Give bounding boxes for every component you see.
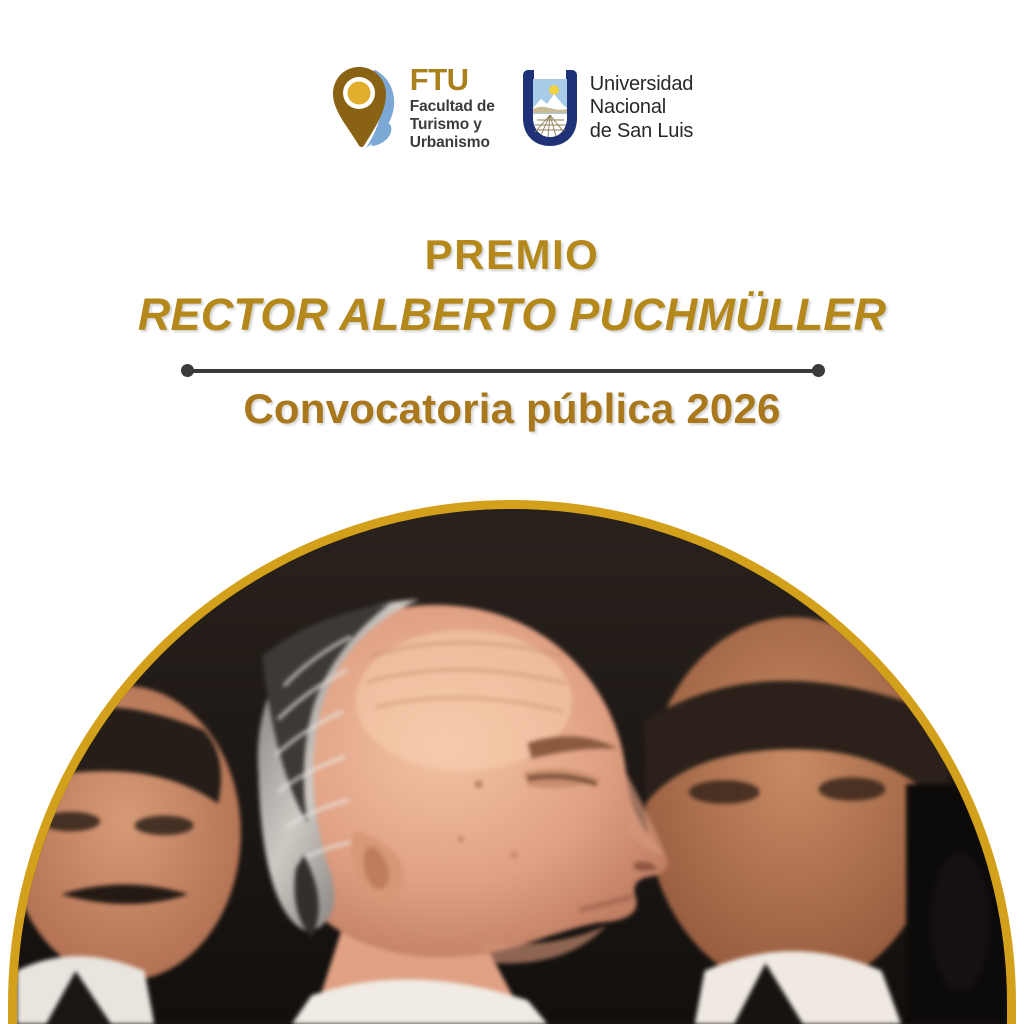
ftu-logo: FTU Facultad de Turismo y Urbanismo: [331, 62, 495, 154]
ftu-subtitle-line-2: Turismo y: [410, 116, 495, 134]
unsl-logo: Universidad Nacional de San Luis: [521, 62, 693, 154]
divider: [181, 364, 825, 377]
call-label: Convocatoria pública 2026: [0, 385, 1024, 433]
ftu-subtitle-line-1: Facultad de: [410, 98, 495, 116]
unsl-text-line-1: Universidad: [590, 73, 693, 96]
unsl-text-line-3: de San Luis: [590, 120, 693, 143]
award-label: PREMIO: [0, 234, 1024, 276]
divider-bar: [187, 369, 819, 373]
unsl-shield-icon: [521, 68, 579, 148]
ftu-acronym: FTU: [410, 64, 495, 95]
ftu-map-pin-icon: [331, 64, 401, 152]
portrait-photo-arch: [8, 500, 1016, 1024]
divider-dot-right-icon: [812, 364, 825, 377]
unsl-logo-text: Universidad Nacional de San Luis: [590, 73, 693, 143]
unsl-text-line-2: Nacional: [590, 96, 693, 119]
ftu-subtitle-line-3: Urbanismo: [410, 134, 495, 152]
ftu-logo-text: FTU Facultad de Turismo y Urbanismo: [410, 64, 495, 152]
title-block: PREMIO RECTOR ALBERTO PUCHMÜLLER: [0, 234, 1024, 337]
award-name: RECTOR ALBERTO PUCHMÜLLER: [0, 292, 1024, 337]
logo-bar: FTU Facultad de Turismo y Urbanismo: [0, 58, 1024, 158]
portrait-photo-image: [17, 509, 1007, 1024]
